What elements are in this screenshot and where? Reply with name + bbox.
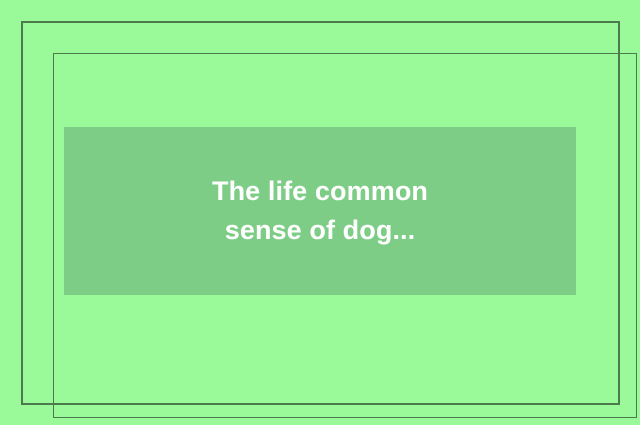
placeholder-content-card: The life common sense of dog...	[64, 127, 576, 295]
card-title: The life common sense of dog...	[198, 172, 442, 250]
